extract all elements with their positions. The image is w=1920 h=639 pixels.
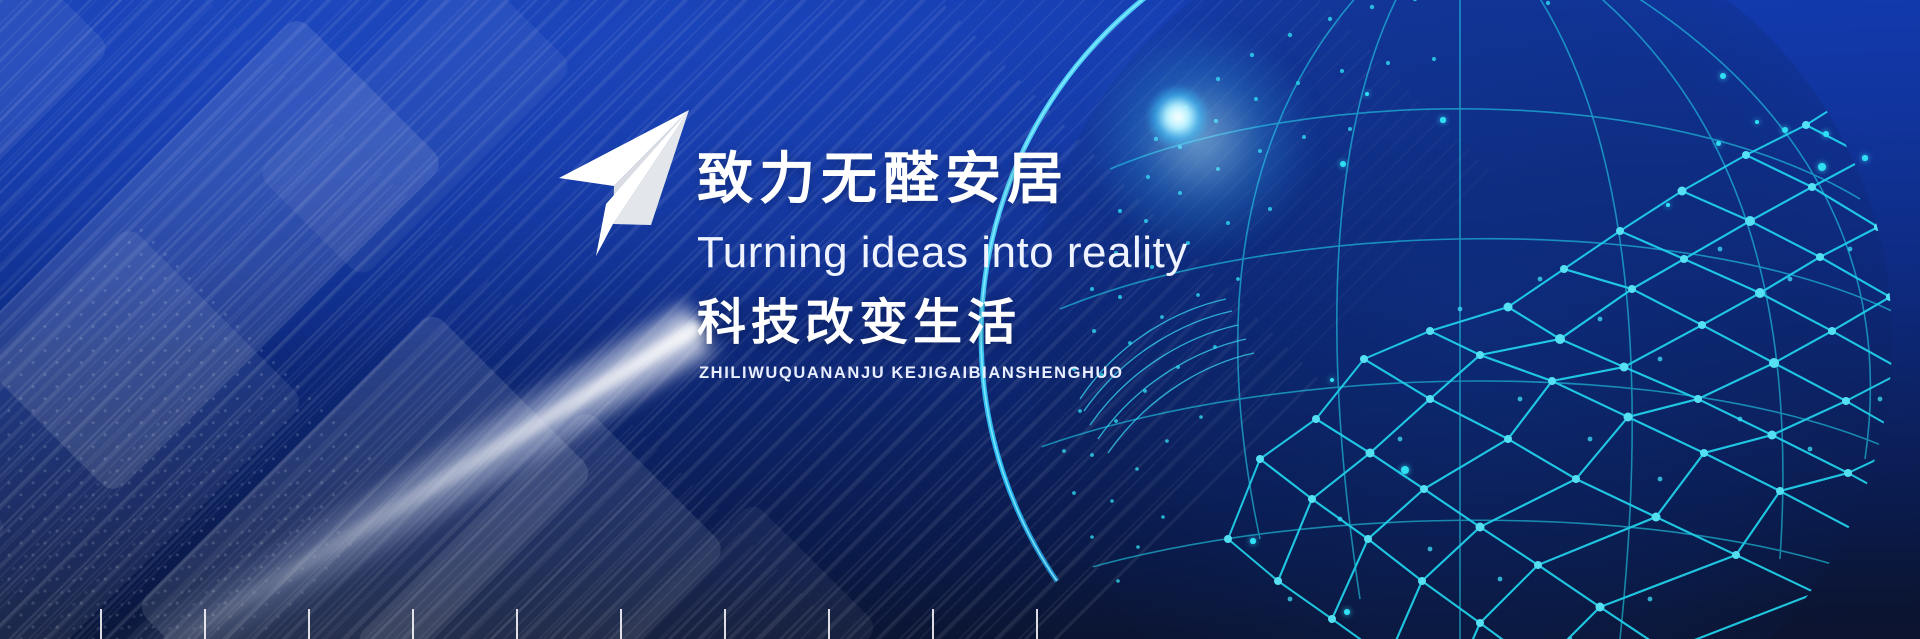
tick-mark — [620, 609, 622, 639]
globe-highlight — [1146, 85, 1210, 149]
tick-mark — [516, 609, 518, 639]
hero-banner: 致力无醛安居 Turning ideas into reality 科技改变生活… — [0, 0, 1920, 639]
banner-copy: 致力无醛安居 Turning ideas into reality 科技改变生活… — [697, 150, 1457, 383]
tick-mark — [204, 609, 206, 639]
pinyin-caption: ZHILIWUQUANANJU KEJIGAIBIANSHENGHUO — [699, 364, 1457, 383]
paper-plane-icon — [556, 108, 706, 256]
sparkle-dot — [1440, 117, 1445, 122]
sparkle-dot — [1666, 203, 1669, 206]
tick-mark — [828, 609, 830, 639]
sparkle-dot — [1823, 131, 1829, 137]
tick-mark — [100, 609, 102, 639]
subheadline: 科技改变生活 — [697, 298, 1457, 349]
sparkle-dot — [1716, 141, 1721, 146]
sparkle-dot — [1250, 538, 1255, 543]
sparkle-dot — [1365, 92, 1369, 96]
tick-mark — [308, 609, 310, 639]
tick-mark — [1036, 609, 1038, 639]
sparkle-dot — [1862, 155, 1867, 160]
bottom-tick-marks — [0, 609, 1920, 639]
sparkle-dot — [1755, 120, 1759, 124]
page-title: 致力无醛安居 — [697, 150, 1457, 207]
tick-mark — [412, 609, 414, 639]
tick-mark — [724, 609, 726, 639]
tagline-english: Turning ideas into reality — [697, 225, 1457, 280]
tick-mark — [932, 609, 934, 639]
sparkle-dot — [1401, 466, 1409, 474]
